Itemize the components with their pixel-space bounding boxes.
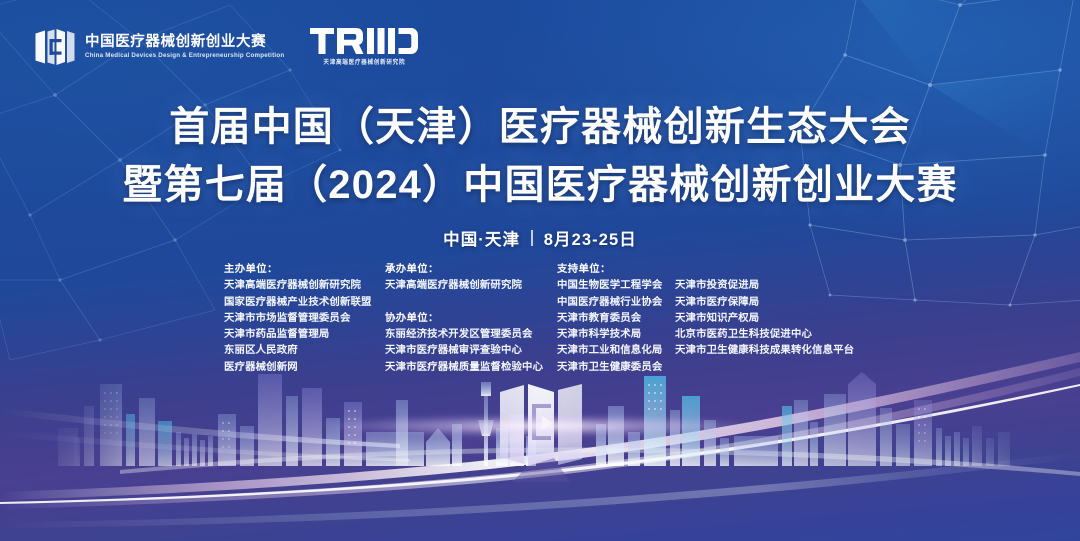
supporter-item: 中国医疗器械行业协会	[557, 295, 675, 311]
host-item: 东丽区人民政府	[224, 343, 385, 359]
organizer-spacer	[385, 295, 557, 311]
supporter-item: 天津市卫生健康科技成果转化信息平台	[675, 343, 890, 359]
organizers-host-column: 主办单位： 天津高端医疗器械创新研究院 国家医疗器械产业技术创新联盟 天津市市场…	[224, 262, 385, 376]
supporter-item: 天津市工业和信息化局	[557, 343, 675, 359]
host-heading: 主办单位：	[224, 262, 385, 278]
institute-logo-cn: 天津高端医疗器械创新研究院	[323, 58, 405, 67]
main-title: 首届中国（天津）医疗器械创新生态大会 暨第七届（2024）中国医疗器械创新创业大…	[0, 98, 1080, 214]
supporters-subcolumn-b: 天津市投资促进局 天津市医疗保障局 天津市知识产权局 北京市医药卫生科技促进中心…	[675, 262, 890, 376]
supporter-item: 天津市科学技术局	[557, 327, 675, 343]
supporter-item: 天津市知识产权局	[675, 311, 890, 327]
coorganizer-item: 东丽经济技术开发区管理委员会	[385, 327, 557, 343]
host-item: 天津高端医疗器械创新研究院	[224, 278, 385, 294]
competition-logo-en: China Medical Devices Design & Entrepren…	[85, 50, 284, 60]
event-location: 中国·天津	[443, 226, 520, 250]
supporter-item: 天津市投资促进局	[675, 278, 890, 294]
institute-logo[interactable]: 天津高端医疗器械创新研究院	[310, 28, 418, 66]
event-info: 中国·天津 8月23-25日	[0, 226, 1080, 250]
event-info-divider	[531, 230, 533, 246]
supporters-b-spacer	[675, 262, 890, 278]
supporters-heading: 支持单位：	[557, 262, 675, 278]
header-logos: 中国医疗器械创新创业大赛 China Medical Devices Desig…	[34, 27, 418, 67]
organizers-organizer-column: 承办单位： 天津高端医疗器械创新研究院 协办单位： 东丽经济技术开发区管理委员会…	[385, 262, 557, 376]
organizer-heading: 承办单位：	[385, 262, 557, 278]
supporter-item: 北京市医药卫生科技促进中心	[675, 327, 890, 343]
coorganizer-item: 天津市医疗器械质量监督检验中心	[385, 360, 557, 376]
host-item: 天津市药品监督管理局	[224, 327, 385, 343]
city-skyline-illustration	[0, 366, 1080, 541]
competition-logo-cn: 中国医疗器械创新创业大赛	[85, 34, 284, 51]
conference-poster: 中国医疗器械创新创业大赛 China Medical Devices Desig…	[0, 0, 1080, 541]
supporter-item: 天津市卫生健康委员会	[557, 360, 675, 376]
coorganizer-item: 天津市医疗器械审评查验中心	[385, 343, 557, 359]
competition-logo[interactable]: 中国医疗器械创新创业大赛 China Medical Devices Desig…	[34, 27, 284, 67]
supporter-item: 天津市医疗保障局	[675, 295, 890, 311]
organizers-supporters-column: 支持单位： 中国生物医学工程学会 中国医疗器械行业协会 天津市教育委员会 天津市…	[557, 262, 890, 376]
organizer-item: 天津高端医疗器械创新研究院	[385, 278, 557, 294]
triid-wordmark	[310, 28, 418, 55]
host-item: 天津市市场监督管理委员会	[224, 311, 385, 327]
competition-logo-text: 中国医疗器械创新创业大赛 China Medical Devices Desig…	[85, 34, 284, 60]
competition-logo-mark	[34, 27, 76, 67]
host-item: 医疗器械创新网	[224, 360, 385, 376]
title-line-1: 首届中国（天津）医疗器械创新生态大会	[0, 98, 1080, 156]
supporter-item: 天津市教育委员会	[557, 311, 675, 327]
event-dates: 8月23-25日	[544, 226, 637, 250]
supporter-item: 中国生物医学工程学会	[557, 278, 675, 294]
title-line-2: 暨第七届（2024）中国医疗器械创新创业大赛	[0, 156, 1080, 214]
organizers-block: 主办单位： 天津高端医疗器械创新研究院 国家医疗器械产业技术创新联盟 天津市市场…	[224, 262, 890, 376]
coorganizer-heading: 协办单位：	[385, 311, 557, 327]
supporters-subcolumn-a: 支持单位： 中国生物医学工程学会 中国医疗器械行业协会 天津市教育委员会 天津市…	[557, 262, 675, 376]
host-item: 国家医疗器械产业技术创新联盟	[224, 295, 385, 311]
